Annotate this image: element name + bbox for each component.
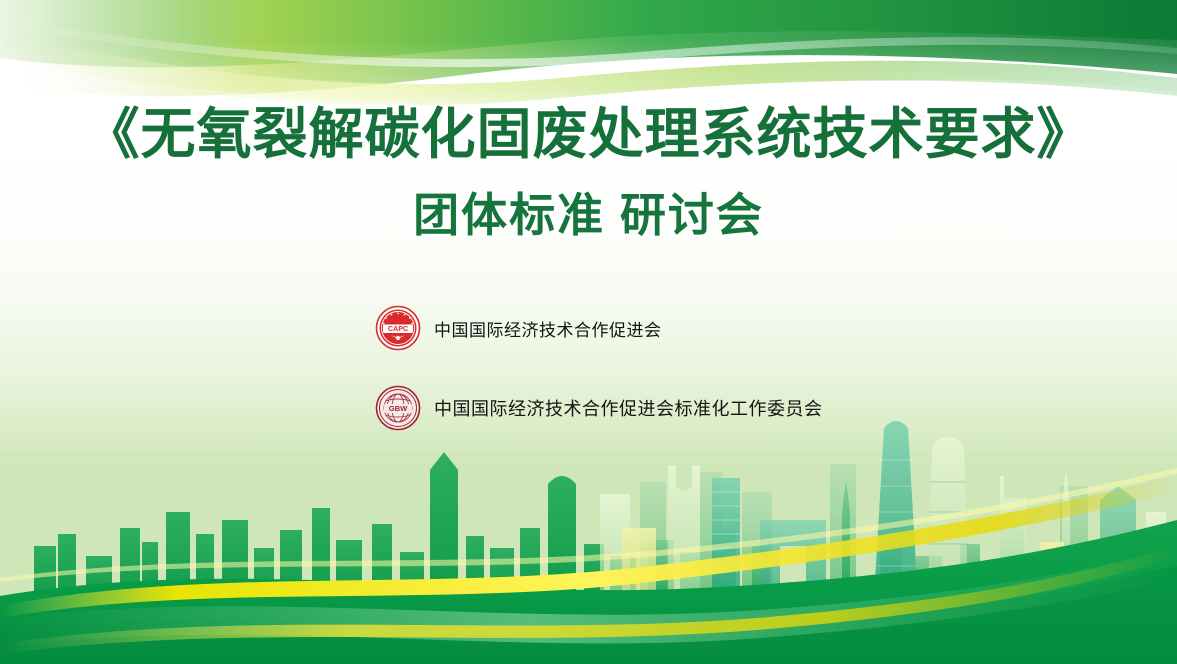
organization-name: 中国国际经济技术合作促进会	[434, 316, 662, 341]
organization-row: CAPC 中国国际经济技术合作促进会	[375, 305, 823, 351]
capc-seal-icon: CAPC	[375, 305, 421, 351]
title-block: 《无氧裂解碳化固废处理系统技术要求》 团体标准 研讨会	[0, 104, 1177, 240]
organization-list: CAPC 中国国际经济技术合作促进会	[375, 305, 823, 431]
organization-name: 中国国际经济技术合作促进会标准化工作委员会	[434, 395, 823, 421]
page-subtitle: 团体标准 研讨会	[0, 190, 1177, 241]
svg-text:GBW: GBW	[389, 404, 408, 413]
svg-text:CAPC: CAPC	[388, 324, 408, 333]
page-title: 《无氧裂解碳化固废处理系统技术要求》	[0, 104, 1177, 166]
presentation-slide: 《无氧裂解碳化固废处理系统技术要求》 团体标准 研讨会	[0, 0, 1177, 664]
organization-row: GBW 中国国际经济技术合作促进会标准化工作委员会	[375, 385, 823, 431]
gbw-seal-icon: GBW	[375, 385, 421, 431]
